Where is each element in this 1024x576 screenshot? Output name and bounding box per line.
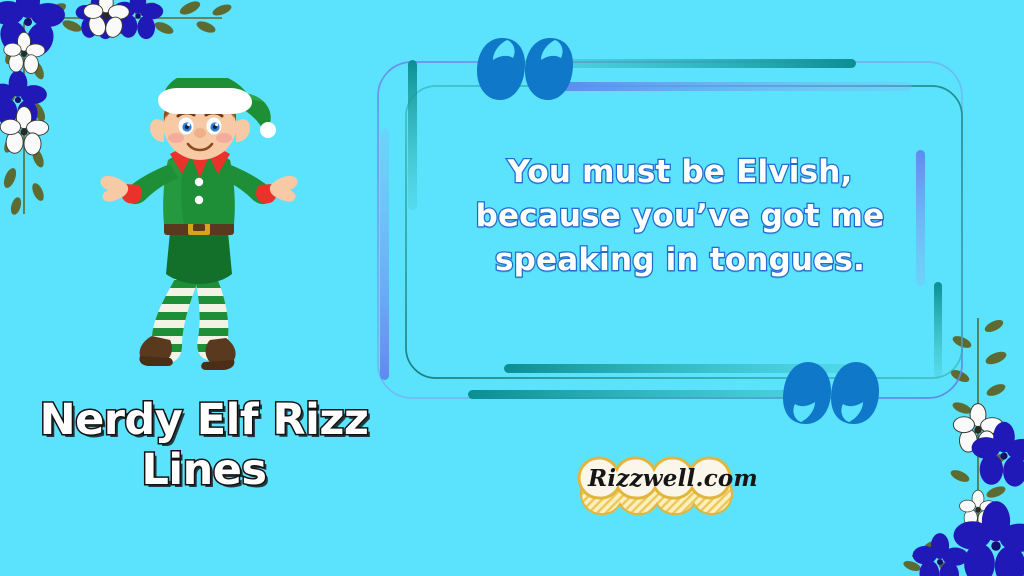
quote-text: You must be Elvish, because you’ve got m… (420, 150, 940, 282)
title-line-2: Lines (26, 446, 382, 496)
quote-line-1: You must be Elvish, (420, 150, 940, 194)
logo-badge[interactable]: Rizzwell.com (553, 444, 793, 520)
title-line-1: Nerdy Elf Rizz (26, 396, 382, 446)
logo-text: Rizzwell.com (553, 444, 793, 512)
quote-card: You must be Elvish, because you’ve got m… (0, 0, 1024, 576)
open-quote-mark-icon (477, 36, 573, 104)
close-quote-mark-icon (783, 358, 879, 426)
quote-line-2: because you’ve got me (420, 194, 940, 238)
quote-line-3: speaking in tongues. (420, 238, 940, 282)
elf-character-icon (96, 78, 311, 378)
page-title: Nerdy Elf Rizz Lines (26, 396, 382, 496)
